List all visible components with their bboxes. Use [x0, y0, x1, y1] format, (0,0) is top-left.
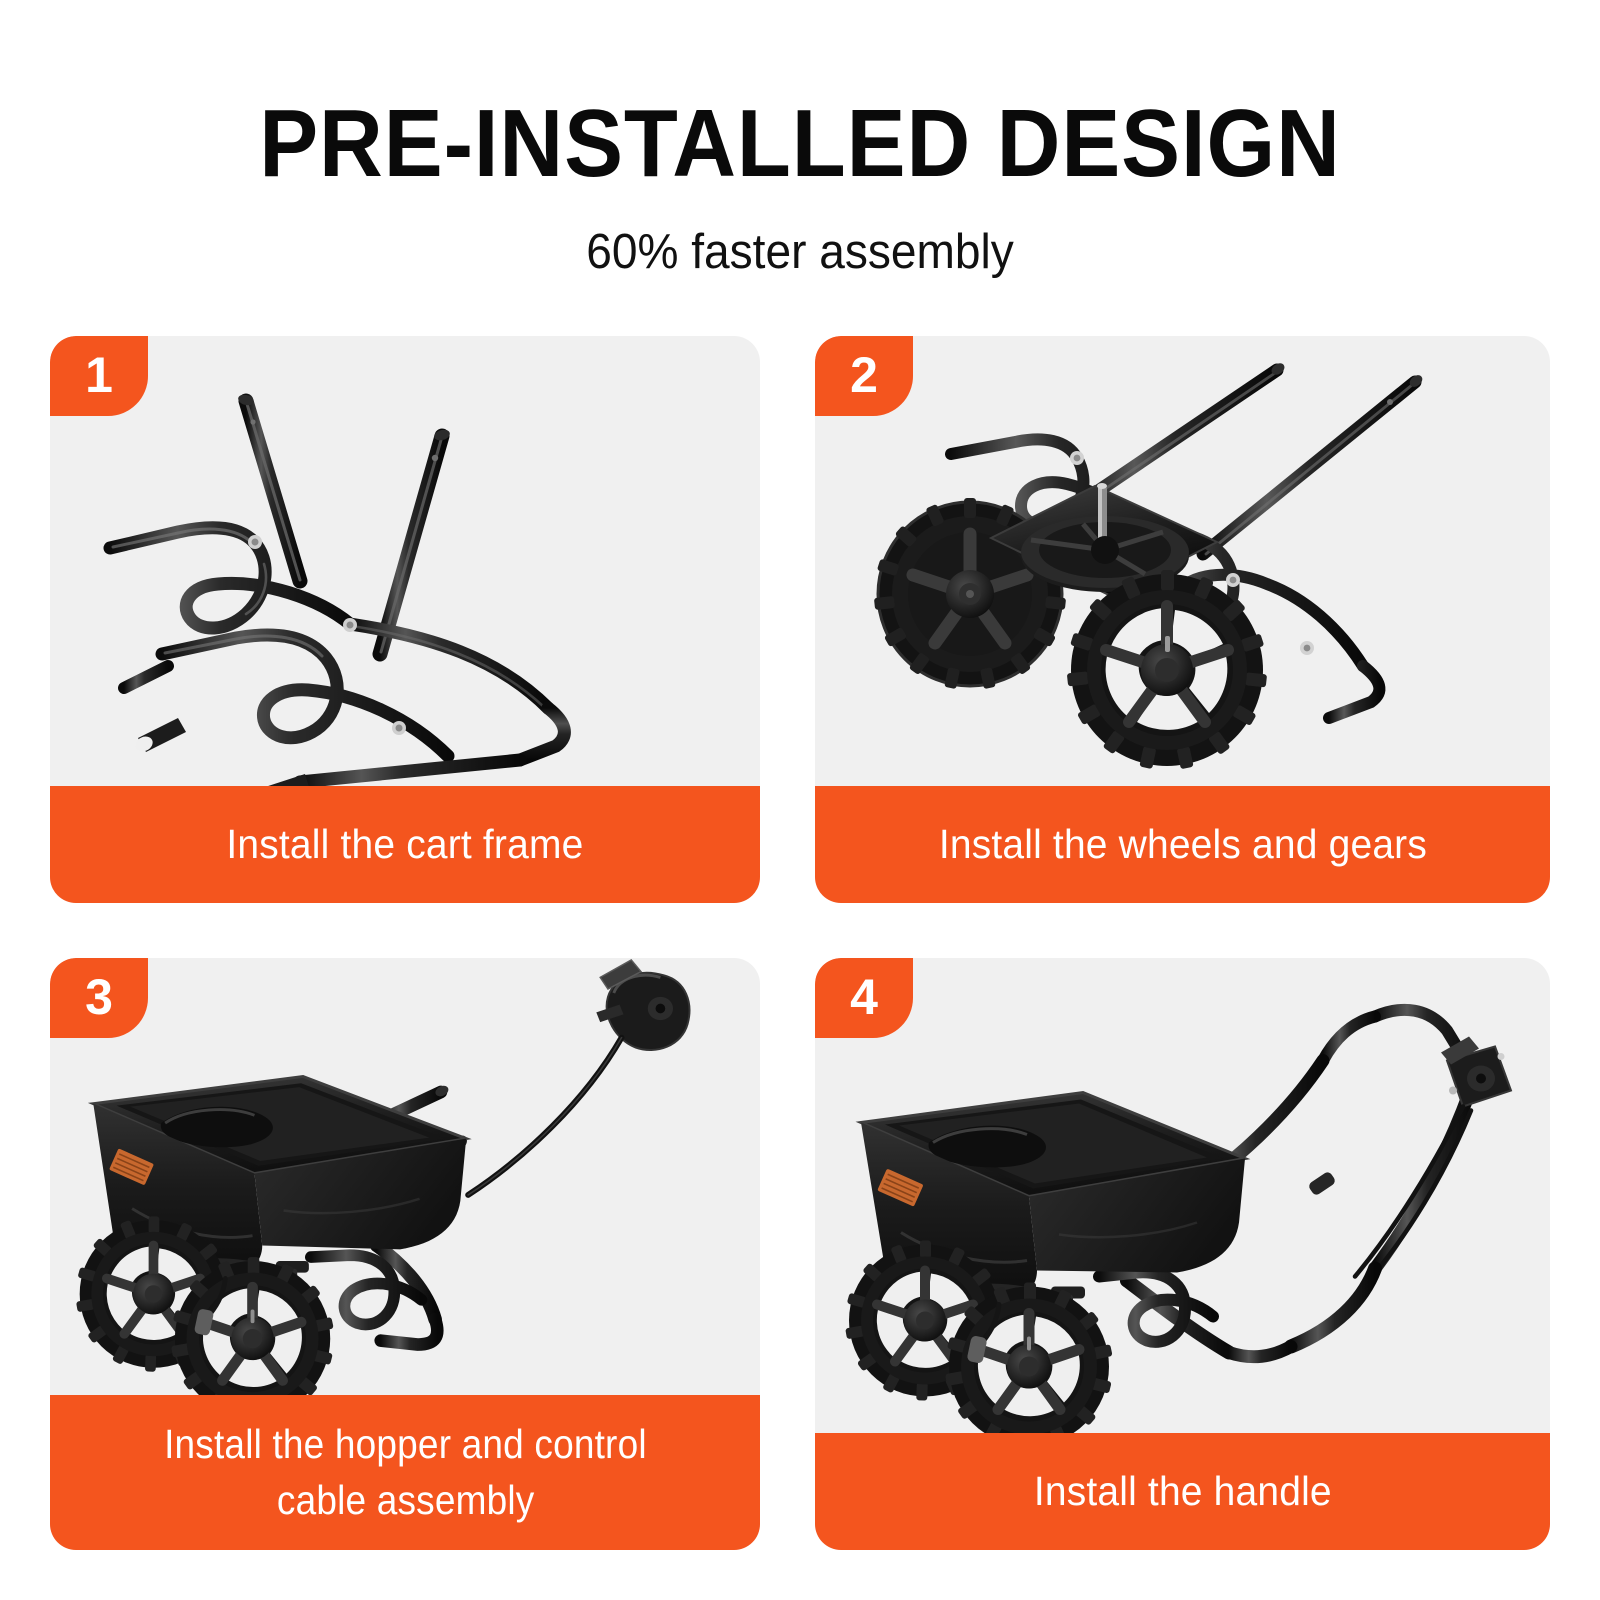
hopper-and-cable-icon [50, 958, 760, 1395]
step-caption-text-4: Install the handle [1034, 1464, 1332, 1519]
cart-frame-icon [50, 336, 760, 786]
step-caption-text-2: Install the wheels and gears [938, 817, 1426, 872]
step-caption-text-1: Install the cart frame [226, 817, 583, 872]
step-illustration-2 [815, 336, 1550, 786]
wheels-and-gears-icon [815, 336, 1550, 786]
step-number-3: 3 [85, 972, 113, 1022]
step-caption-4: Install the handle [815, 1433, 1550, 1550]
step-caption-1: Install the cart frame [50, 786, 760, 903]
step-badge-4: 4 [815, 958, 913, 1038]
step-illustration-4 [815, 958, 1550, 1433]
step-card-1[interactable]: 1 [50, 336, 760, 903]
step-number-2: 2 [850, 350, 878, 400]
step-badge-3: 3 [50, 958, 148, 1038]
step-caption-line-3a: Install the hopper and control [164, 1417, 647, 1472]
step-badge-2: 2 [815, 336, 913, 416]
step-caption-3: Install the hopper and control cable ass… [50, 1395, 760, 1550]
steps-row-2: 3 [0, 958, 1600, 1550]
header: PRE-INSTALLED DESIGN 60% faster assembly [0, 0, 1600, 277]
step-card-4[interactable]: 4 [815, 958, 1550, 1550]
step-card-3[interactable]: 3 [50, 958, 760, 1550]
step-illustration-3 [50, 958, 760, 1395]
step-badge-1: 1 [50, 336, 148, 416]
steps-row-1: 1 [0, 336, 1600, 903]
page-title: PRE-INSTALLED DESIGN [64, 96, 1536, 192]
step-caption-2: Install the wheels and gears [815, 786, 1550, 903]
steps-grid: 1 [0, 336, 1600, 1550]
complete-spreader-icon [815, 958, 1550, 1433]
step-illustration-1 [50, 336, 760, 786]
step-number-4: 4 [850, 972, 878, 1022]
step-number-1: 1 [85, 350, 113, 400]
step-caption-text-3: Install the hopper and control cable ass… [151, 1417, 659, 1528]
page-subtitle: 60% faster assembly [48, 228, 1552, 277]
step-caption-line-3b: cable assembly [276, 1473, 534, 1528]
step-card-2[interactable]: 2 [815, 336, 1550, 903]
